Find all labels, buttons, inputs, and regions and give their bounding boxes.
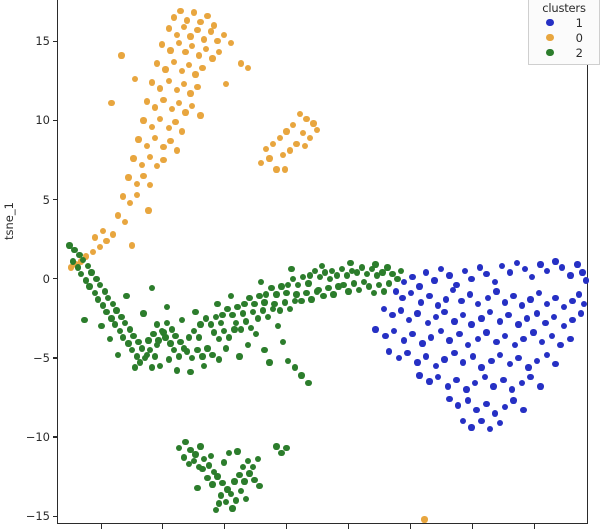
scatter-point-cluster-2 xyxy=(229,505,235,511)
scatter-point-cluster-1 xyxy=(473,407,479,413)
scatter-point-cluster-2 xyxy=(305,380,311,386)
scatter-point-cluster-0 xyxy=(293,141,299,147)
scatter-point-cluster-2 xyxy=(226,334,232,340)
scatter-point-cluster-2 xyxy=(182,439,188,445)
scatter-point-cluster-1 xyxy=(544,352,550,358)
scatter-point-cluster-0 xyxy=(174,87,180,93)
scatter-point-cluster-0 xyxy=(68,264,74,270)
scatter-point-cluster-0 xyxy=(303,116,309,122)
scatter-point-cluster-1 xyxy=(398,307,404,313)
scatter-point-cluster-1 xyxy=(514,260,520,266)
scatter-point-cluster-1 xyxy=(381,306,387,312)
scatter-point-cluster-2 xyxy=(282,299,288,305)
scatter-point-cluster-1 xyxy=(492,410,498,416)
scatter-point-cluster-2 xyxy=(186,334,192,340)
scatter-point-cluster-1 xyxy=(534,358,540,364)
scatter-point-cluster-2 xyxy=(246,470,252,476)
scatter-point-cluster-2 xyxy=(216,500,222,506)
scatter-point-cluster-2 xyxy=(218,492,224,498)
scatter-point-cluster-2 xyxy=(238,326,244,332)
scatter-point-cluster-0 xyxy=(245,65,251,71)
scatter-point-cluster-1 xyxy=(507,269,513,275)
legend-entry-label: 1 xyxy=(576,16,583,30)
scatter-point-cluster-2 xyxy=(246,295,252,301)
scatter-point-cluster-1 xyxy=(509,386,515,392)
scatter-point-cluster-1 xyxy=(404,350,410,356)
scatter-point-cluster-0 xyxy=(191,9,197,15)
scatter-point-cluster-1 xyxy=(497,318,503,324)
legend-entry-1[interactable]: 1 xyxy=(535,15,593,30)
scatter-point-cluster-2 xyxy=(322,269,328,275)
scatter-point-cluster-2 xyxy=(149,285,155,291)
scatter-point-cluster-0 xyxy=(171,14,177,20)
scatter-point-cluster-2 xyxy=(292,298,298,304)
scatter-point-cluster-1 xyxy=(578,310,584,316)
scatter-point-cluster-0 xyxy=(149,79,155,85)
scatter-point-cluster-2 xyxy=(223,345,229,351)
scatter-point-cluster-0 xyxy=(103,238,109,244)
scatter-point-cluster-2 xyxy=(129,347,135,353)
scatter-point-cluster-2 xyxy=(240,310,246,316)
scatter-point-cluster-2 xyxy=(255,456,261,462)
scatter-point-cluster-2 xyxy=(278,450,284,456)
scatter-point-cluster-0 xyxy=(154,60,160,66)
scatter-point-cluster-0 xyxy=(297,111,303,117)
scatter-point-cluster-2 xyxy=(298,372,304,378)
scatter-point-cluster-1 xyxy=(451,350,457,356)
scatter-point-cluster-1 xyxy=(393,288,399,294)
scatter-point-cluster-0 xyxy=(266,155,272,161)
scatter-point-cluster-2 xyxy=(191,328,197,334)
scatter-point-cluster-0 xyxy=(157,116,163,122)
scatter-point-cluster-1 xyxy=(499,263,505,269)
scatter-point-cluster-1 xyxy=(414,310,420,316)
legend-marker-icon xyxy=(546,34,554,42)
scatter-point-cluster-1 xyxy=(510,397,516,403)
scatter-point-cluster-2 xyxy=(208,453,214,459)
scatter-point-cluster-2 xyxy=(103,309,109,315)
scatter-point-cluster-2 xyxy=(241,478,247,484)
scatter-point-cluster-1 xyxy=(451,318,457,324)
scatter-point-cluster-1 xyxy=(544,301,550,307)
scatter-point-cluster-1 xyxy=(441,356,447,362)
scatter-point-cluster-1 xyxy=(460,359,466,365)
scatter-point-cluster-2 xyxy=(285,358,291,364)
scatter-point-cluster-2 xyxy=(381,288,387,294)
scatter-point-cluster-2 xyxy=(86,283,92,289)
scatter-point-cluster-2 xyxy=(228,491,234,497)
scatter-point-cluster-2 xyxy=(157,363,163,369)
scatter-point-cluster-1 xyxy=(492,279,498,285)
scatter-point-cluster-1 xyxy=(579,269,585,275)
scatter-point-cluster-2 xyxy=(298,298,304,304)
scatter-point-cluster-1 xyxy=(456,331,462,337)
scatter-point-cluster-1 xyxy=(500,377,506,383)
scatter-point-cluster-0 xyxy=(122,219,128,225)
scatter-point-cluster-1 xyxy=(408,290,414,296)
legend-marker-icon xyxy=(546,49,554,57)
scatter-point-cluster-0 xyxy=(197,112,203,118)
scatter-point-cluster-0 xyxy=(310,120,316,126)
scatter-point-cluster-1 xyxy=(581,301,587,307)
scatter-point-cluster-1 xyxy=(470,353,476,359)
scatter-point-cluster-0 xyxy=(160,157,166,163)
scatter-point-cluster-0 xyxy=(277,135,283,141)
scatter-point-cluster-2 xyxy=(334,272,340,278)
scatter-point-cluster-2 xyxy=(123,293,129,299)
scatter-point-cluster-1 xyxy=(465,342,471,348)
scatter-point-cluster-2 xyxy=(347,260,353,266)
scatter-point-cluster-2 xyxy=(280,339,286,345)
scatter-point-cluster-2 xyxy=(93,276,99,282)
scatter-point-cluster-1 xyxy=(515,321,521,327)
scatter-point-cluster-1 xyxy=(574,261,580,267)
scatter-point-cluster-1 xyxy=(418,299,424,305)
scatter-point-cluster-1 xyxy=(409,274,415,280)
scatter-point-cluster-1 xyxy=(419,340,425,346)
scatter-point-cluster-2 xyxy=(231,326,237,332)
scatter-point-cluster-2 xyxy=(216,336,222,342)
scatter-point-cluster-1 xyxy=(441,309,447,315)
scatter-point-cluster-0 xyxy=(135,136,141,142)
scatter-point-cluster-2 xyxy=(169,326,175,332)
scatter-point-cluster-1 xyxy=(487,309,493,315)
scatter-point-cluster-2 xyxy=(98,323,104,329)
scatter-point-cluster-0 xyxy=(199,65,205,71)
scatter-point-cluster-0 xyxy=(194,84,200,90)
scatter-point-cluster-2 xyxy=(330,291,336,297)
scatter-point-cluster-0 xyxy=(140,173,146,179)
scatter-point-cluster-1 xyxy=(529,274,535,280)
scatter-point-cluster-2 xyxy=(187,369,193,375)
scatter-point-cluster-1 xyxy=(433,314,439,320)
scatter-point-cluster-1 xyxy=(537,383,543,389)
scatter-point-cluster-0 xyxy=(90,249,96,255)
scatter-point-cluster-2 xyxy=(339,266,345,272)
scatter-point-cluster-0 xyxy=(157,85,163,91)
scatter-point-cluster-2 xyxy=(154,342,160,348)
scatter-point-cluster-2 xyxy=(167,340,173,346)
scatter-point-cluster-2 xyxy=(248,325,254,331)
scatter-point-cluster-2 xyxy=(320,293,326,299)
scatter-point-cluster-2 xyxy=(233,320,239,326)
scatter-point-cluster-1 xyxy=(497,352,503,358)
scatter-point-cluster-2 xyxy=(201,456,207,462)
scatter-point-cluster-2 xyxy=(261,299,267,305)
scatter-point-cluster-2 xyxy=(340,282,346,288)
legend-entries: 102 xyxy=(535,15,593,60)
scatter-point-cluster-2 xyxy=(376,282,382,288)
scatter-point-cluster-2 xyxy=(223,499,229,505)
scatter-point-cluster-1 xyxy=(539,339,545,345)
scatter-point-cluster-2 xyxy=(139,345,145,351)
scatter-point-cluster-2 xyxy=(287,306,293,312)
scatter-point-cluster-2 xyxy=(359,264,365,270)
scatter-point-cluster-2 xyxy=(201,363,207,369)
scatter-point-cluster-2 xyxy=(300,274,306,280)
scatter-point-cluster-2 xyxy=(228,293,234,299)
scatter-point-cluster-2 xyxy=(268,285,274,291)
scatter-point-cluster-2 xyxy=(315,287,321,293)
scatter-point-cluster-2 xyxy=(209,481,215,487)
scatter-point-cluster-1 xyxy=(583,277,589,283)
scatter-point-cluster-1 xyxy=(382,333,388,339)
scatter-point-cluster-0 xyxy=(176,100,182,106)
scatter-point-cluster-2 xyxy=(345,288,351,294)
scatter-point-cluster-1 xyxy=(478,364,484,370)
scatter-point-cluster-2 xyxy=(273,443,279,449)
scatter-point-cluster-2 xyxy=(266,359,272,365)
scatter-point-cluster-2 xyxy=(312,268,318,274)
scatter-point-cluster-0 xyxy=(166,125,172,131)
legend-marker-icon xyxy=(546,19,554,27)
scatter-point-cluster-2 xyxy=(285,282,291,288)
scatter-point-cluster-0 xyxy=(223,81,229,87)
scatter-point-cluster-1 xyxy=(478,418,484,424)
scatter-point-cluster-1 xyxy=(524,315,530,321)
scatter-point-cluster-1 xyxy=(534,310,540,316)
scatter-point-cluster-2 xyxy=(102,288,108,294)
scatter-point-cluster-1 xyxy=(569,298,575,304)
scatter-point-cluster-2 xyxy=(204,345,210,351)
scatter-point-cluster-0 xyxy=(130,155,136,161)
scatter-point-cluster-0 xyxy=(216,49,222,55)
scatter-point-cluster-1 xyxy=(527,374,533,380)
scatter-point-cluster-2 xyxy=(125,340,131,346)
scatter-point-cluster-1 xyxy=(561,323,567,329)
scatter-point-cluster-1 xyxy=(460,312,466,318)
scatter-point-cluster-2 xyxy=(197,321,203,327)
scatter-point-cluster-2 xyxy=(164,320,170,326)
scatter-point-cluster-2 xyxy=(209,352,215,358)
scatter-point-cluster-1 xyxy=(423,269,429,275)
scatter-point-cluster-2 xyxy=(194,485,200,491)
scatter-point-cluster-2 xyxy=(75,264,81,270)
scatter-point-cluster-0 xyxy=(179,128,185,134)
scatter-point-cluster-2 xyxy=(293,291,299,297)
scatter-point-cluster-2 xyxy=(224,306,230,312)
scatter-point-cluster-0 xyxy=(172,119,178,125)
scatter-point-cluster-2 xyxy=(327,276,333,282)
scatter-point-cluster-1 xyxy=(396,355,402,361)
scatter-point-cluster-0 xyxy=(144,98,150,104)
scatter-point-cluster-0 xyxy=(162,66,168,72)
scatter-point-cluster-0 xyxy=(144,143,150,149)
scatter-point-cluster-2 xyxy=(149,364,155,370)
scatter-point-cluster-0 xyxy=(97,244,103,250)
scatter-point-cluster-2 xyxy=(105,295,111,301)
scatter-point-cluster-2 xyxy=(213,507,219,513)
scatter-point-cluster-2 xyxy=(255,315,261,321)
scatter-point-cluster-1 xyxy=(497,420,503,426)
scatter-point-cluster-1 xyxy=(431,277,437,283)
legend-entry-0[interactable]: 0 xyxy=(535,30,593,45)
scatter-point-cluster-2 xyxy=(147,347,153,353)
scatter-point-cluster-1 xyxy=(505,312,511,318)
scatter-point-cluster-1 xyxy=(458,298,464,304)
scatter-point-cluster-2 xyxy=(219,480,225,486)
scatter-point-cluster-2 xyxy=(236,472,242,478)
scatter-point-cluster-2 xyxy=(371,290,377,296)
scatter-point-cluster-0 xyxy=(192,71,198,77)
scatter-point-cluster-1 xyxy=(512,342,518,348)
scatter-point-cluster-1 xyxy=(450,287,456,293)
scatter-point-cluster-0 xyxy=(263,146,269,152)
scatter-point-cluster-2 xyxy=(213,314,219,320)
scatter-point-cluster-2 xyxy=(152,353,158,359)
scatter-point-cluster-0 xyxy=(258,160,264,166)
scatter-point-cluster-2 xyxy=(189,355,195,361)
scatter-point-cluster-0 xyxy=(184,17,190,23)
scatter-point-cluster-2 xyxy=(219,312,225,318)
scatter-point-cluster-1 xyxy=(507,361,513,367)
scatter-point-cluster-2 xyxy=(258,279,264,285)
scatter-point-cluster-1 xyxy=(552,361,558,367)
scatter-point-cluster-0 xyxy=(147,182,153,188)
scatter-point-cluster-1 xyxy=(478,315,484,321)
scatter-point-cluster-2 xyxy=(145,337,151,343)
scatter-point-cluster-2 xyxy=(236,353,242,359)
scatter-point-cluster-2 xyxy=(211,329,217,335)
scatter-point-cluster-0 xyxy=(194,27,200,33)
scatter-point-cluster-1 xyxy=(576,291,582,297)
scatter-point-cluster-1 xyxy=(520,407,526,413)
scatter-point-cluster-0 xyxy=(154,163,160,169)
scatter-point-cluster-2 xyxy=(107,336,113,342)
scatter-point-cluster-2 xyxy=(181,454,187,460)
scatter-point-cluster-2 xyxy=(384,264,390,270)
scatter-point-cluster-1 xyxy=(552,258,558,264)
scatter-point-cluster-0 xyxy=(134,181,140,187)
scatter-point-cluster-1 xyxy=(542,320,548,326)
scatter-point-cluster-0 xyxy=(169,106,175,112)
scatter-point-cluster-2 xyxy=(192,451,198,457)
scatter-point-cluster-0 xyxy=(181,24,187,30)
scatter-point-cluster-1 xyxy=(445,383,451,389)
scatter-point-cluster-2 xyxy=(154,321,160,327)
scatter-point-cluster-2 xyxy=(283,290,289,296)
scatter-point-cluster-0 xyxy=(166,25,172,31)
scatter-point-cluster-1 xyxy=(406,317,412,323)
scatter-point-cluster-1 xyxy=(502,299,508,305)
scatter-point-cluster-0 xyxy=(208,28,214,34)
scatter-point-cluster-1 xyxy=(468,276,474,282)
scatter-point-cluster-0 xyxy=(147,154,153,160)
scatter-point-cluster-2 xyxy=(303,290,309,296)
scatter-point-cluster-2 xyxy=(364,271,370,277)
scatter-point-cluster-2 xyxy=(80,257,86,263)
scatter-point-cluster-0 xyxy=(129,242,135,248)
scatter-point-cluster-1 xyxy=(487,426,493,432)
scatter-point-cluster-0 xyxy=(201,36,207,42)
scatter-point-cluster-1 xyxy=(399,295,405,301)
scatter-point-cluster-0 xyxy=(204,13,210,19)
scatter-point-cluster-2 xyxy=(176,353,182,359)
scatter-point-cluster-0 xyxy=(152,104,158,110)
scatter-point-cluster-2 xyxy=(398,268,404,274)
scatter-point-cluster-2 xyxy=(265,314,271,320)
scatter-point-cluster-2 xyxy=(172,333,178,339)
scatter-point-cluster-0 xyxy=(189,43,195,49)
scatter-point-cluster-1 xyxy=(510,293,516,299)
scatter-point-cluster-2 xyxy=(250,309,256,315)
scatter-point-cluster-2 xyxy=(256,483,262,489)
scatter-point-cluster-0 xyxy=(421,516,427,522)
scatter-point-cluster-2 xyxy=(278,283,284,289)
scatter-point-cluster-0 xyxy=(179,68,185,74)
scatter-point-cluster-1 xyxy=(493,288,499,294)
scatter-point-cluster-2 xyxy=(250,464,256,470)
scatter-point-cluster-2 xyxy=(234,304,240,310)
scatter-point-cluster-1 xyxy=(549,333,555,339)
scatter-point-cluster-1 xyxy=(522,266,528,272)
scatter-point-cluster-0 xyxy=(110,231,116,237)
scatter-point-cluster-2 xyxy=(251,477,257,483)
scatter-point-cluster-2 xyxy=(208,321,214,327)
scatter-point-cluster-2 xyxy=(118,314,124,320)
scatter-point-cluster-1 xyxy=(527,296,533,302)
scatter-point-cluster-0 xyxy=(177,8,183,14)
scatter-point-cluster-2 xyxy=(283,445,289,451)
scatter-point-cluster-1 xyxy=(567,272,573,278)
scatter-point-cluster-0 xyxy=(171,59,177,65)
scatter-point-cluster-1 xyxy=(557,342,563,348)
scatter-point-cluster-2 xyxy=(292,364,298,370)
scatter-point-cluster-2 xyxy=(351,280,357,286)
scatter-point-cluster-1 xyxy=(463,386,469,392)
scatter-point-cluster-0 xyxy=(176,40,182,46)
scatter-point-cluster-1 xyxy=(551,314,557,320)
scatter-point-cluster-2 xyxy=(203,315,209,321)
scatter-point-cluster-1 xyxy=(428,334,434,340)
scatter-plot-figure: tsne_1 151050−5−10−15 clusters 102 xyxy=(0,0,600,530)
scatter-point-cluster-2 xyxy=(233,497,239,503)
scatter-point-cluster-1 xyxy=(425,320,431,326)
scatter-point-cluster-2 xyxy=(112,321,118,327)
scatter-point-cluster-1 xyxy=(519,302,525,308)
scatter-point-cluster-2 xyxy=(218,320,224,326)
scatter-point-cluster-1 xyxy=(490,383,496,389)
scatter-point-cluster-1 xyxy=(409,331,415,337)
scatter-point-cluster-0 xyxy=(314,127,320,133)
scatter-point-cluster-2 xyxy=(70,258,76,264)
scatter-point-cluster-1 xyxy=(423,353,429,359)
scatter-point-cluster-0 xyxy=(100,228,106,234)
scatter-point-cluster-1 xyxy=(493,339,499,345)
scatter-point-cluster-0 xyxy=(283,128,289,134)
scatter-point-cluster-0 xyxy=(127,200,133,206)
scatter-point-cluster-2 xyxy=(356,287,362,293)
scatter-point-cluster-1 xyxy=(488,358,494,364)
scatter-point-cluster-0 xyxy=(108,100,114,106)
scatter-point-cluster-2 xyxy=(78,271,84,277)
legend-entry-2[interactable]: 2 xyxy=(535,45,593,60)
scatter-point-cluster-1 xyxy=(460,418,466,424)
scatter-point-cluster-2 xyxy=(366,283,372,289)
scatter-point-cluster-2 xyxy=(88,269,94,275)
scatter-point-cluster-1 xyxy=(468,424,474,430)
legend: clusters 102 xyxy=(528,0,600,65)
scatter-point-cluster-1 xyxy=(520,336,526,342)
scatter-point-cluster-0 xyxy=(167,138,173,144)
scatter-point-cluster-2 xyxy=(253,331,259,337)
scatter-point-cluster-1 xyxy=(455,402,461,408)
scatter-point-cluster-2 xyxy=(166,356,172,362)
scatter-point-cluster-2 xyxy=(214,473,220,479)
scatter-point-cluster-1 xyxy=(472,380,478,386)
scatter-point-cluster-2 xyxy=(245,458,251,464)
scatter-point-cluster-1 xyxy=(401,337,407,343)
